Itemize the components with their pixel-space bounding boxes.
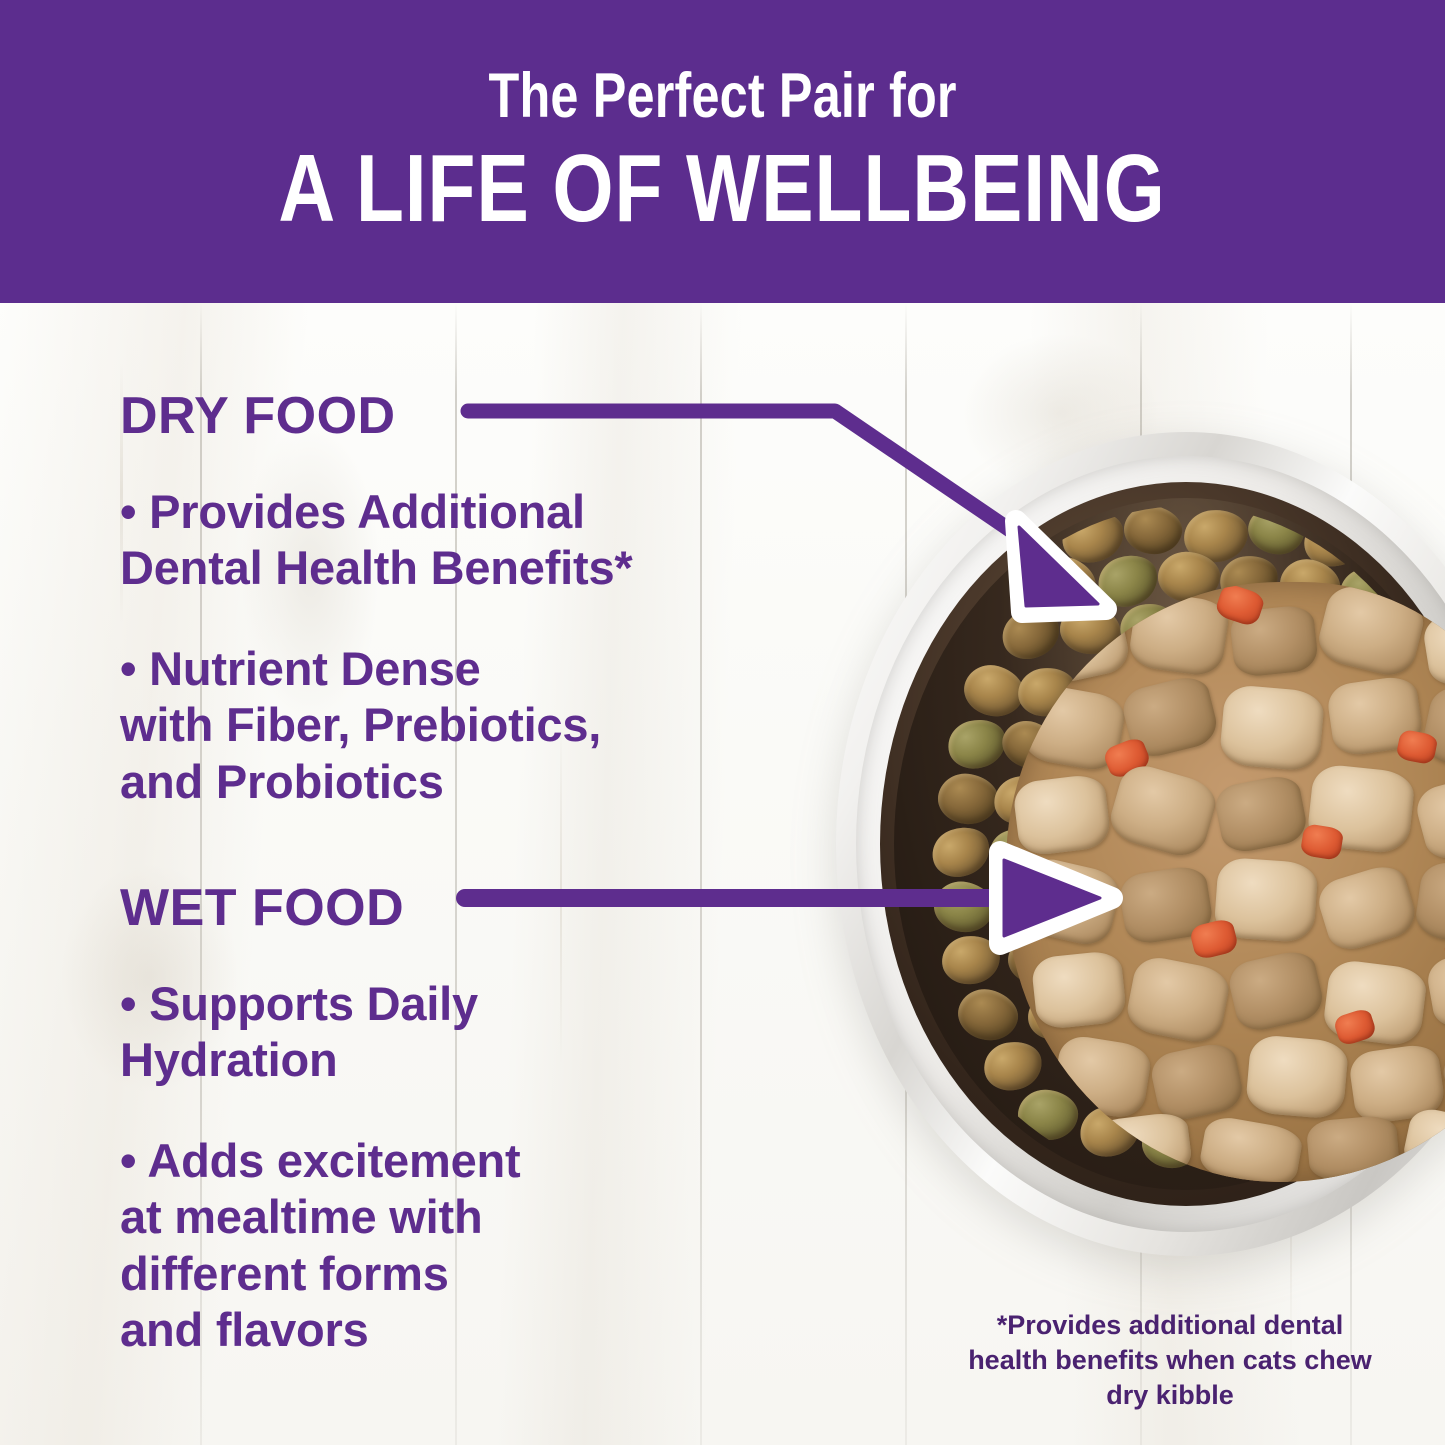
section-title-wet-food: WET FOOD (120, 882, 850, 934)
bullet-wet-2-line-4: and flavors (120, 1302, 850, 1358)
bullet-wet-2-line-1: • Adds excitement (120, 1133, 850, 1189)
banner-subtitle: The Perfect Pair for (488, 63, 956, 129)
bullet-dry-2-line-2: with Fiber, Prebiotics, (120, 697, 850, 753)
bullet-dry-2: • Nutrient Dense with Fiber, Prebiotics,… (120, 641, 850, 810)
bullet-dry-2-line-1: • Nutrient Dense (120, 641, 850, 697)
promo-graphic: The Perfect Pair for A LIFE OF WELLBEING… (0, 0, 1445, 1445)
bullet-dry-1-line-1: • Provides Additional (120, 484, 850, 540)
pet-food-bowl-image (836, 432, 1445, 1256)
bullet-wet-2-line-3: different forms (120, 1246, 850, 1302)
bullet-dry-1-line-2: Dental Health Benefits* (120, 540, 850, 596)
bullet-wet-1-line-1: • Supports Daily (120, 976, 850, 1032)
bullet-wet-1: • Supports Daily Hydration (120, 976, 850, 1089)
bullet-wet-1-line-2: Hydration (120, 1032, 850, 1088)
header-banner: The Perfect Pair for A LIFE OF WELLBEING (0, 0, 1445, 303)
wet-food-center (1006, 582, 1445, 1182)
bullet-wet-2: • Adds excitement at mealtime with diffe… (120, 1133, 850, 1359)
benefits-column: DRY FOOD • Provides Additional Dental He… (120, 330, 850, 1358)
footnote-text: *Provides additional dental health benef… (955, 1308, 1385, 1413)
bullet-wet-2-line-2: at mealtime with (120, 1189, 850, 1245)
banner-title: A LIFE OF WELLBEING (279, 139, 1166, 240)
section-title-dry-food: DRY FOOD (120, 390, 850, 442)
bullet-dry-1: • Provides Additional Dental Health Bene… (120, 484, 850, 597)
bullet-dry-2-line-3: and Probiotics (120, 754, 850, 810)
